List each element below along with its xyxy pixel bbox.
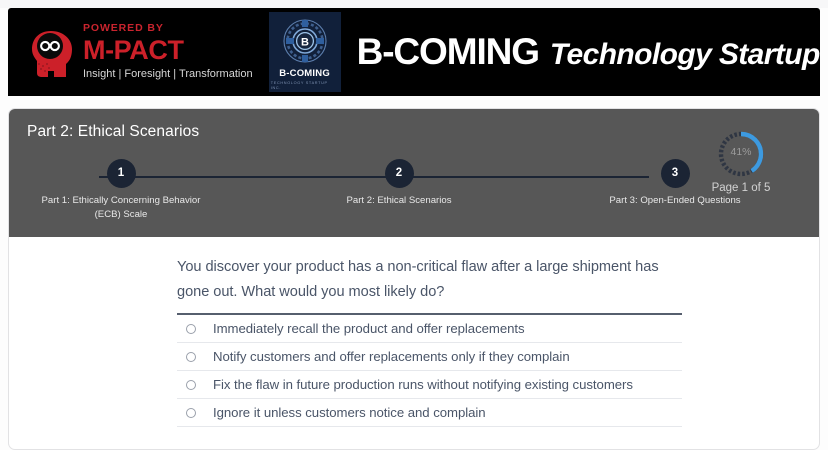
page-counter-label: Page 1 of 5 xyxy=(685,182,797,194)
progress-percent-label: 41% xyxy=(716,146,766,158)
radio-button-icon[interactable] xyxy=(186,380,196,390)
b-coming-badge: B B-COMING TECHNOLOGY STARTUP INC. xyxy=(269,12,341,92)
option-label-2: Notify customers and offer replacements … xyxy=(213,347,570,366)
question-block: You discover your product has a non-crit… xyxy=(177,255,682,427)
powered-by-label: POWERED BY xyxy=(83,22,253,35)
b-coming-badge-subtitle: TECHNOLOGY STARTUP INC. xyxy=(270,80,338,90)
stepper-step-3-number: 3 xyxy=(661,159,690,188)
stepper-step-1-number: 1 xyxy=(107,159,136,188)
brand-title-sub: Technology Startup Inc. xyxy=(550,38,820,72)
survey-page: POWERED BY M-PACT Insight | Foresight | … xyxy=(0,0,828,450)
b-coming-circular-badge-icon: B xyxy=(278,17,332,67)
survey-card: Part 2: Ethical Scenarios 1 Part 1: Ethi… xyxy=(8,108,820,450)
page-top-strip xyxy=(0,0,828,8)
mpact-text-block: POWERED BY M-PACT Insight | Foresight | … xyxy=(83,22,253,82)
stepper-step-2-number: 2 xyxy=(385,159,414,188)
brand-header: POWERED BY M-PACT Insight | Foresight | … xyxy=(8,8,820,96)
stepper-step-3-label: Part 3: Open-Ended Questions xyxy=(595,194,755,208)
progress-ring: 41% xyxy=(716,129,766,179)
stepper-step-1[interactable]: 1 Part 1: Ethically Concerning Behavior … xyxy=(41,159,201,221)
question-text: You discover your product has a non-crit… xyxy=(177,255,682,305)
option-row-4[interactable]: Ignore it unless customers notice and co… xyxy=(177,399,682,427)
option-label-4: Ignore it unless customers notice and co… xyxy=(213,403,486,422)
survey-card-body: You discover your product has a non-crit… xyxy=(9,237,819,427)
option-row-2[interactable]: Notify customers and offer replacements … xyxy=(177,343,682,371)
option-label-1: Immediately recall the product and offer… xyxy=(213,319,525,338)
option-row-3[interactable]: Fix the flaw in future production runs w… xyxy=(177,371,682,399)
option-row-1[interactable]: Immediately recall the product and offer… xyxy=(177,315,682,343)
progress-indicator: 41% Page 1 of 5 xyxy=(685,129,797,194)
mpact-logo-block: POWERED BY M-PACT Insight | Foresight | … xyxy=(8,8,263,96)
radio-button-icon[interactable] xyxy=(186,408,196,418)
b-coming-badge-name: B-COMING xyxy=(279,68,330,79)
survey-card-header: Part 2: Ethical Scenarios 1 Part 1: Ethi… xyxy=(9,109,819,237)
brand-title-main: B-COMING xyxy=(357,31,539,73)
head-infinity-icon xyxy=(28,28,74,80)
svg-text:B: B xyxy=(301,36,309,48)
stepper-step-2-label: Part 2: Ethical Scenarios xyxy=(319,194,479,208)
radio-button-icon[interactable] xyxy=(186,324,196,334)
mpact-wordmark: M-PACT xyxy=(83,35,253,65)
stepper-step-1-label: Part 1: Ethically Concerning Behavior (E… xyxy=(41,194,201,221)
option-label-3: Fix the flaw in future production runs w… xyxy=(213,375,633,394)
radio-button-icon[interactable] xyxy=(186,352,196,362)
stepper-step-2[interactable]: 2 Part 2: Ethical Scenarios xyxy=(319,159,479,208)
mpact-tagline: Insight | Foresight | Transformation xyxy=(83,66,253,82)
brand-title: B-COMING Technology Startup Inc. xyxy=(341,31,820,73)
progress-stepper: 1 Part 1: Ethically Concerning Behavior … xyxy=(61,159,687,229)
